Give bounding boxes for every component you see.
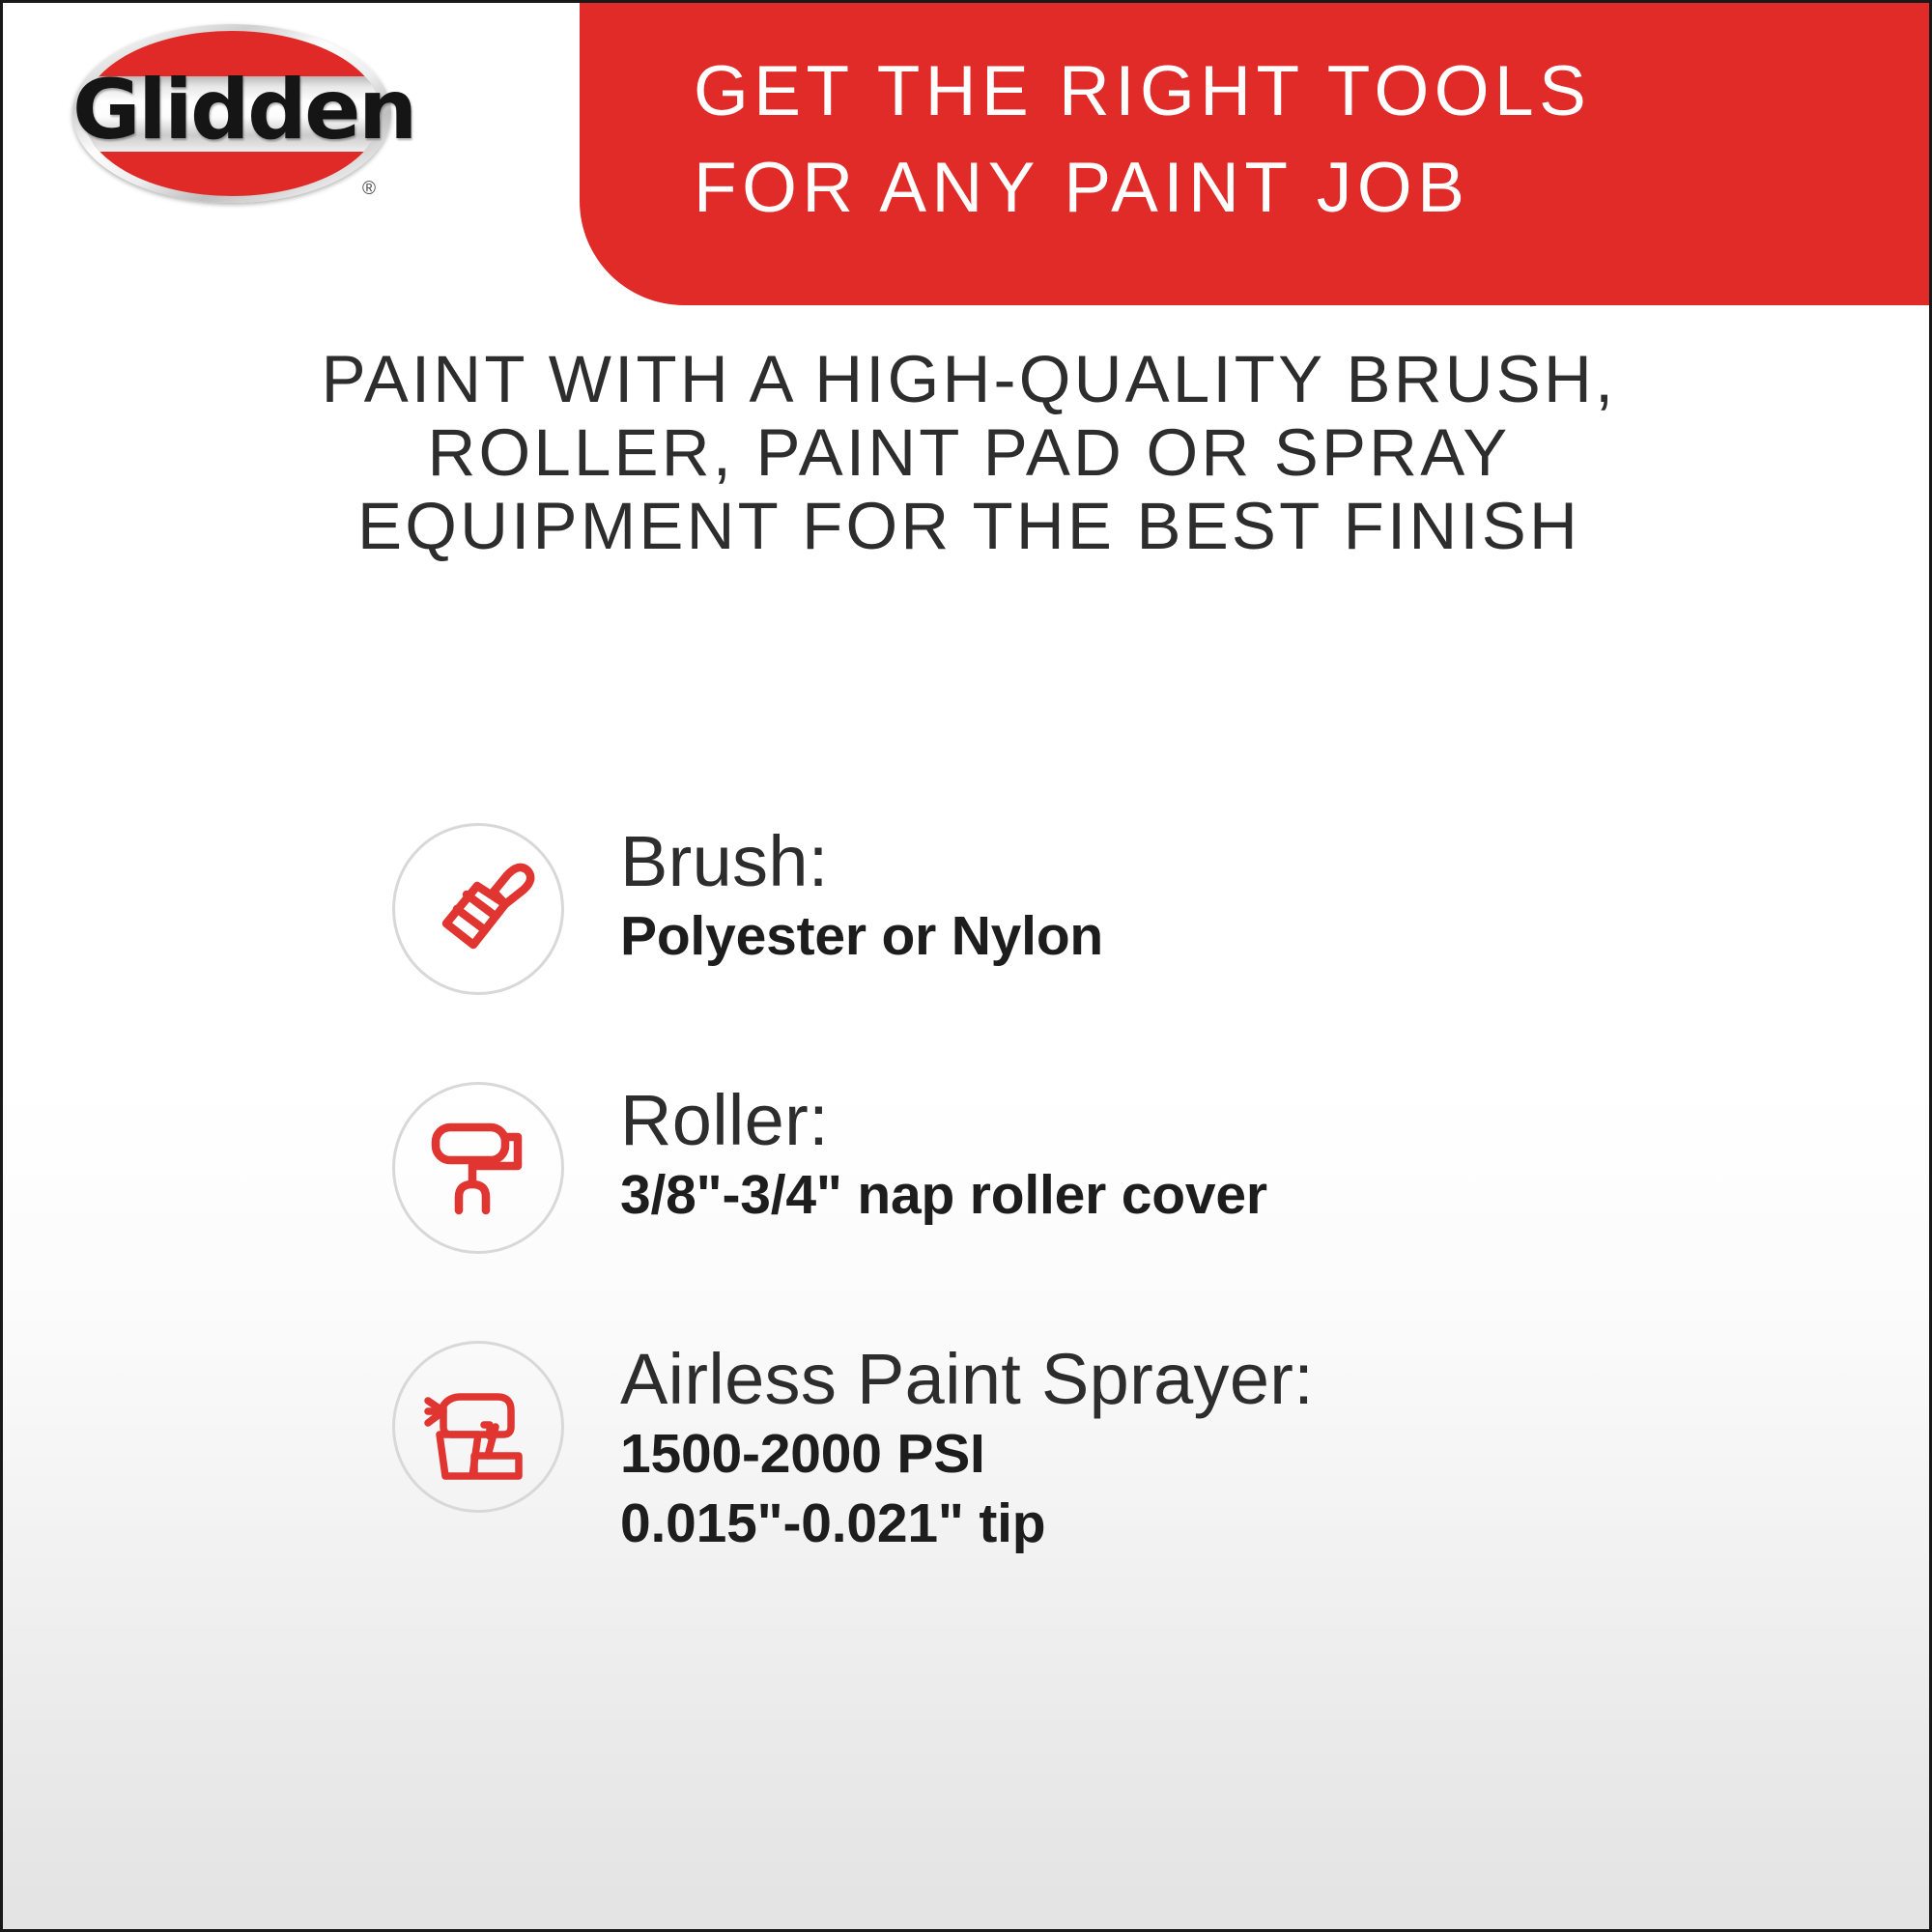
tool-text-block: Airless Paint Sprayer: 1500-2000 PSI 0.0… — [620, 1337, 1314, 1557]
tool-title: Airless Paint Sprayer: — [620, 1339, 1314, 1420]
page-title-line-3: EQUIPMENT FOR THE BEST FINISH — [99, 490, 1838, 563]
tool-detail: 3/8"-3/4" nap roller cover — [620, 1161, 1267, 1229]
paint-roller-icon — [392, 1082, 564, 1254]
banner-heading-line-2: FOR ANY PAINT JOB — [694, 140, 1891, 237]
tool-title: Roller: — [620, 1080, 1267, 1161]
page-title-line-1: PAINT WITH A HIGH-QUALITY BRUSH, — [99, 343, 1838, 416]
tool-detail: 1500-2000 PSI — [620, 1420, 1314, 1488]
tool-detail: Polyester or Nylon — [620, 902, 1103, 970]
list-item: Airless Paint Sprayer: 1500-2000 PSI 0.0… — [3, 1337, 1932, 1557]
tool-list: Brush: Polyester or Nylon Roller: — [3, 819, 1932, 1557]
tool-title: Brush: — [620, 821, 1103, 902]
glidden-logo: Glidden ® — [72, 24, 391, 217]
logo-wordmark: Glidden — [72, 65, 391, 156]
header-banner: GET THE RIGHT TOOLS FOR ANY PAINT JOB — [580, 3, 1932, 305]
paint-sprayer-icon — [392, 1341, 564, 1513]
page-title-line-2: ROLLER, PAINT PAD OR SPRAY — [99, 416, 1838, 490]
registered-trademark-icon: ® — [362, 179, 376, 200]
tool-text-block: Brush: Polyester or Nylon — [620, 819, 1103, 970]
list-item: Brush: Polyester or Nylon — [3, 819, 1932, 995]
paint-brush-icon — [392, 823, 564, 995]
tool-detail: 0.015"-0.021" tip — [620, 1490, 1314, 1557]
banner-heading: GET THE RIGHT TOOLS FOR ANY PAINT JOB — [694, 43, 1891, 237]
infographic-page: GET THE RIGHT TOOLS FOR ANY PAINT JOB Gl… — [0, 0, 1932, 1932]
page-title: PAINT WITH A HIGH-QUALITY BRUSH, ROLLER,… — [99, 343, 1838, 563]
list-item: Roller: 3/8"-3/4" nap roller cover — [3, 1078, 1932, 1254]
tool-text-block: Roller: 3/8"-3/4" nap roller cover — [620, 1078, 1267, 1229]
banner-heading-line-1: GET THE RIGHT TOOLS — [694, 43, 1891, 140]
